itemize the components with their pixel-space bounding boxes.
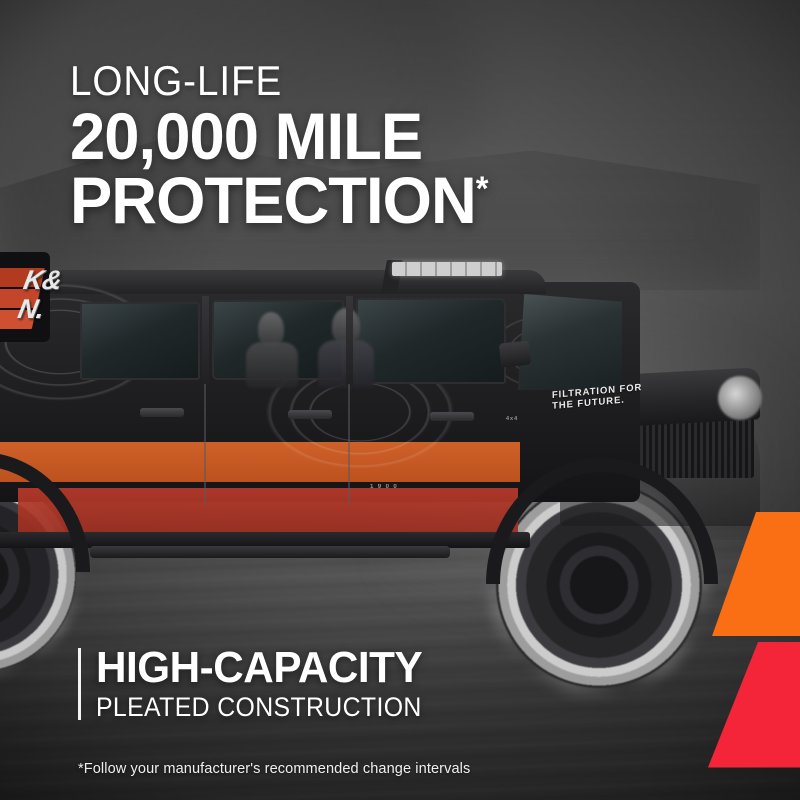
logo-wordmark-line2: N. bbox=[15, 295, 58, 324]
footnote-disclaimer: *Follow your manufacturer's recommended … bbox=[78, 760, 470, 777]
front-door-window bbox=[356, 298, 506, 384]
headlight bbox=[718, 376, 762, 420]
c-pillar bbox=[346, 296, 353, 386]
front-door-seam bbox=[348, 384, 350, 504]
rear-window bbox=[80, 302, 200, 380]
headline-line-1: 20,000 MILE bbox=[70, 104, 684, 168]
feature-subtitle: PLEATED CONSTRUCTION bbox=[96, 692, 422, 722]
headline-line-2-text: PROTECTION bbox=[70, 163, 476, 237]
logo-wordmark-line1: K& bbox=[21, 266, 64, 295]
roof-light-bar bbox=[392, 262, 502, 276]
headline-line-2: PROTECTION* bbox=[70, 168, 684, 232]
lower-text-group: HIGH-CAPACITY PLEATED CONSTRUCTION bbox=[96, 644, 450, 722]
vehicle-suv: FILTRATION FOR THE FUTURE. 1 9 0 0 4x4 bbox=[0, 246, 770, 626]
vertical-divider-rule bbox=[78, 648, 81, 720]
door-handle-front bbox=[430, 412, 474, 421]
side-mirror bbox=[499, 340, 531, 367]
body-badge-text: 4x4 bbox=[506, 416, 518, 422]
passenger-head-rear bbox=[258, 312, 284, 346]
feature-title: HIGH-CAPACITY bbox=[96, 644, 436, 692]
windshield bbox=[518, 294, 622, 390]
door-badge-text: 1 9 0 0 bbox=[370, 484, 398, 490]
b-pillar bbox=[202, 296, 209, 386]
kn-brand-logo: K& N. bbox=[0, 266, 85, 334]
door-handle-mid bbox=[288, 410, 332, 419]
promo-banner: FILTRATION FOR THE FUTURE. 1 9 0 0 4x4 K… bbox=[0, 0, 800, 800]
rear-door-seam bbox=[204, 384, 206, 504]
headline-asterisk: * bbox=[476, 170, 488, 208]
headline-block: LONG-LIFE 20,000 MILE PROTECTION* bbox=[70, 58, 710, 232]
door-handle-rear bbox=[140, 408, 184, 417]
headline-kicker: LONG-LIFE bbox=[70, 58, 659, 104]
side-step-bar bbox=[90, 546, 450, 558]
passenger-body-rear bbox=[246, 342, 298, 388]
